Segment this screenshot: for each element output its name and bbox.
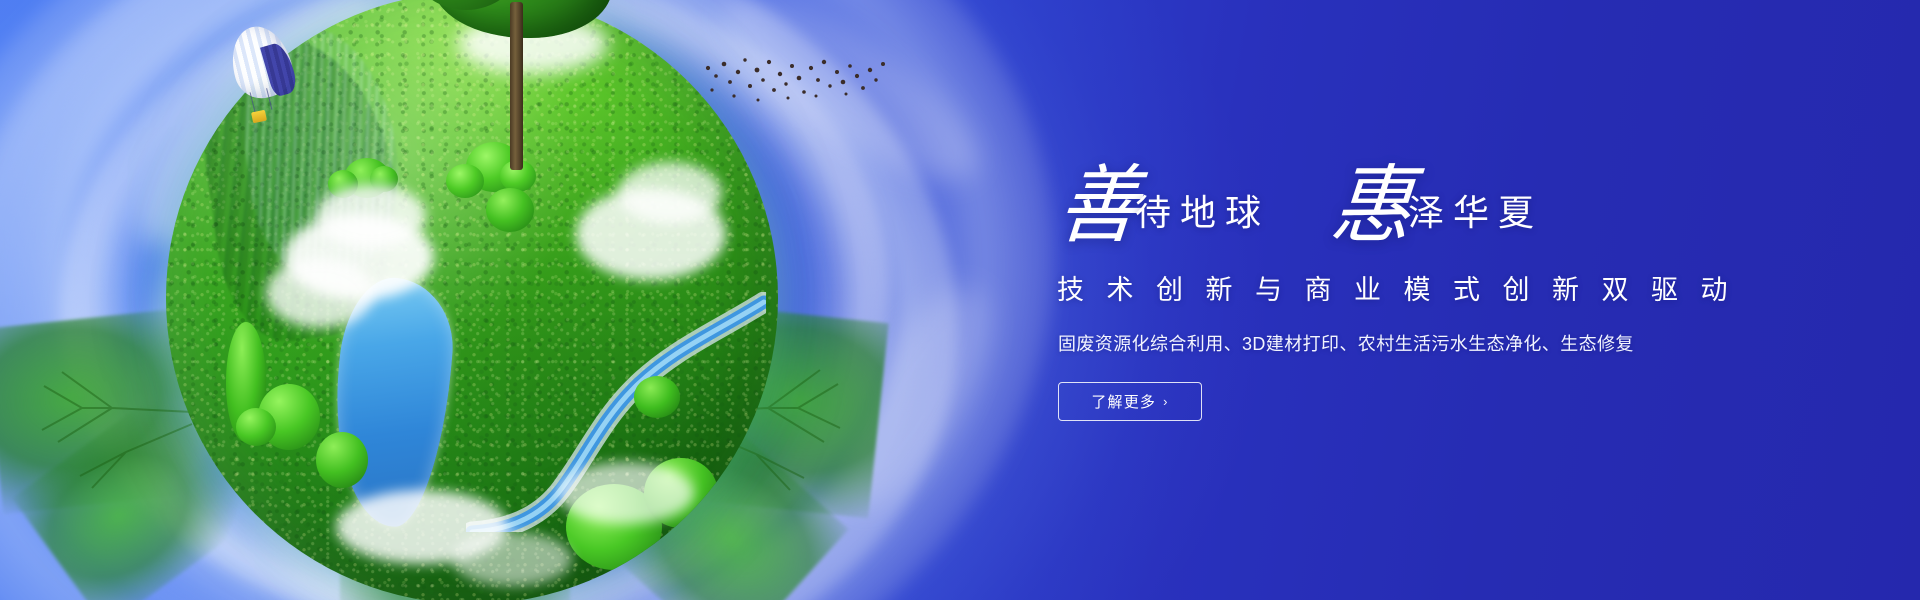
banner-content: 善 待地球 惠 泽华夏 技 术 创 新 与 商 业 模 式 创 新 双 驱 动 …: [1055, 0, 1815, 600]
balloon-basket: [251, 110, 267, 124]
bush-icon: [258, 384, 320, 450]
bush-icon: [316, 432, 368, 488]
cloud-icon: [266, 258, 374, 328]
large-tree-icon: [414, 0, 624, 170]
bird-flock-icon: [700, 46, 890, 116]
page-title: 善 待地球 惠 泽华夏: [1055, 141, 1543, 241]
tree-trunk: [510, 2, 523, 170]
cloud-icon: [618, 162, 722, 224]
bush-icon: [486, 188, 534, 232]
cloud-icon: [316, 184, 426, 248]
hero-banner: 善 待地球 惠 泽华夏 技 术 创 新 与 商 业 模 式 创 新 双 驱 动 …: [0, 0, 1920, 600]
headline-large-char-2: 惠: [1328, 167, 1416, 247]
banner-description: 固废资源化综合利用、3D建材打印、农村生活污水生态净化、生态修复: [1058, 330, 1634, 356]
headline-small-chars-2: 泽华夏: [1408, 195, 1543, 231]
cloud-icon: [452, 532, 572, 586]
learn-more-label: 了解更多: [1091, 391, 1156, 412]
headline-large-char-1: 善: [1055, 167, 1143, 247]
hot-air-balloon-icon: [232, 26, 298, 130]
banner-subtitle: 技 术 创 新 与 商 业 模 式 创 新 双 驱 动: [1057, 268, 1735, 307]
chevron-right-icon: ›: [1163, 395, 1169, 408]
headline-small-chars-1: 待地球: [1135, 195, 1270, 231]
learn-more-button[interactable]: 了解更多 ›: [1058, 382, 1202, 421]
cloud-icon: [558, 462, 694, 524]
bush-icon: [634, 376, 680, 418]
